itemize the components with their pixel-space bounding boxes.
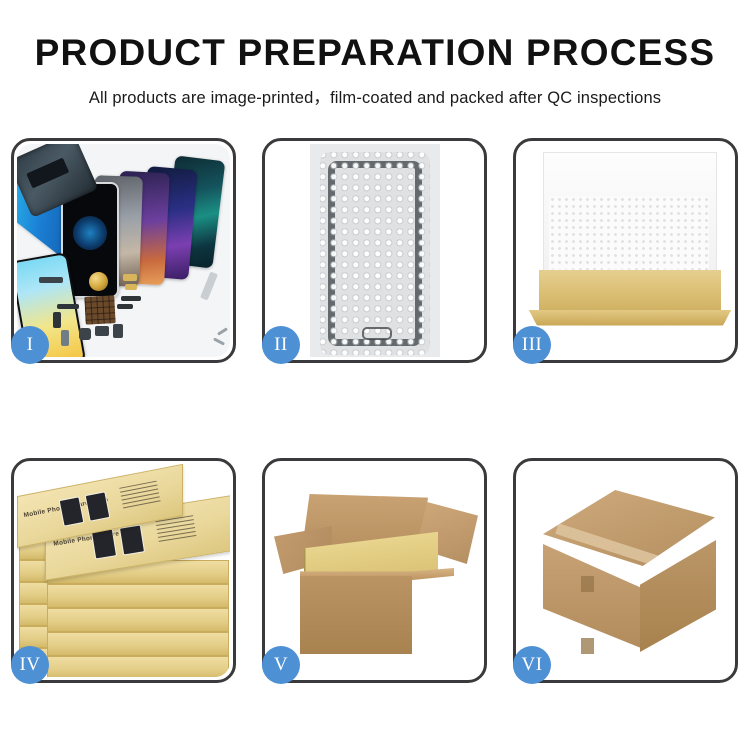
step-2-image bbox=[268, 144, 481, 357]
small-component-1 bbox=[79, 328, 91, 340]
page-header: PRODUCT PREPARATION PROCESS All products… bbox=[0, 0, 750, 108]
small-component-3 bbox=[113, 324, 123, 338]
carton-hand-hole bbox=[581, 576, 594, 592]
step-badge-1: I bbox=[11, 326, 49, 364]
bubble-wrap-texture bbox=[320, 152, 430, 355]
box-phone-image bbox=[119, 524, 145, 555]
step-3-image bbox=[519, 144, 732, 357]
step-badge-4: IV bbox=[11, 646, 49, 684]
carton-front-face bbox=[300, 576, 412, 654]
process-step-panel-4: Mobile Phone Spare Parts Mobile Phone Sp… bbox=[11, 458, 236, 683]
tool-tweezers bbox=[200, 272, 218, 301]
chip-board-part bbox=[84, 295, 115, 325]
speaker-coil-part bbox=[89, 272, 108, 291]
process-step-panel-6: VI bbox=[513, 458, 738, 683]
kraft-box-body bbox=[539, 270, 721, 316]
small-component-2 bbox=[95, 326, 109, 336]
step-badge-3: III bbox=[513, 326, 551, 364]
step-4-image: Mobile Phone Spare Parts Mobile Phone Sp… bbox=[17, 464, 230, 677]
step-6-image bbox=[519, 464, 732, 677]
process-steps-grid: I II III bbox=[11, 138, 739, 683]
carton-seal-tape bbox=[543, 490, 715, 566]
process-step-panel-5: V bbox=[262, 458, 487, 683]
flex-cable-part-4 bbox=[117, 304, 133, 309]
spare-part-strip bbox=[39, 277, 63, 283]
flex-cable-part-2 bbox=[53, 312, 61, 328]
step-1-image bbox=[17, 144, 230, 357]
process-step-panel-2: II bbox=[262, 138, 487, 363]
gold-connector-part-2 bbox=[125, 284, 137, 290]
stacked-box-edge bbox=[47, 584, 229, 608]
home-button bbox=[362, 327, 392, 340]
step-badge-6: VI bbox=[513, 646, 551, 684]
product-box-stack: Mobile Phone Spare Parts Mobile Phone Sp… bbox=[17, 464, 230, 677]
stacked-box-edge bbox=[47, 656, 229, 677]
box-phone-image bbox=[91, 528, 117, 559]
stacked-box-edge bbox=[47, 608, 229, 632]
process-step-panel-3: III bbox=[513, 138, 738, 363]
page-subtitle: All products are image-printed，film-coat… bbox=[0, 84, 750, 108]
screw-part-2 bbox=[217, 327, 228, 335]
step-badge-5: V bbox=[262, 646, 300, 684]
flex-cable-part-1 bbox=[57, 304, 79, 309]
process-step-panel-1: I bbox=[11, 138, 236, 363]
carton-hand-hole bbox=[581, 638, 594, 654]
foam-lining bbox=[549, 196, 709, 272]
screw-part-1 bbox=[213, 337, 225, 345]
gold-connector-part-1 bbox=[123, 274, 137, 281]
step-5-image bbox=[268, 464, 481, 677]
stacked-box-edge bbox=[47, 632, 229, 656]
step-badge-2: II bbox=[262, 326, 300, 364]
small-component-4 bbox=[61, 330, 69, 346]
flex-cable-part-3 bbox=[121, 296, 141, 301]
bubble-wrapped-screen bbox=[320, 152, 430, 355]
page-title: PRODUCT PREPARATION PROCESS bbox=[0, 34, 750, 71]
